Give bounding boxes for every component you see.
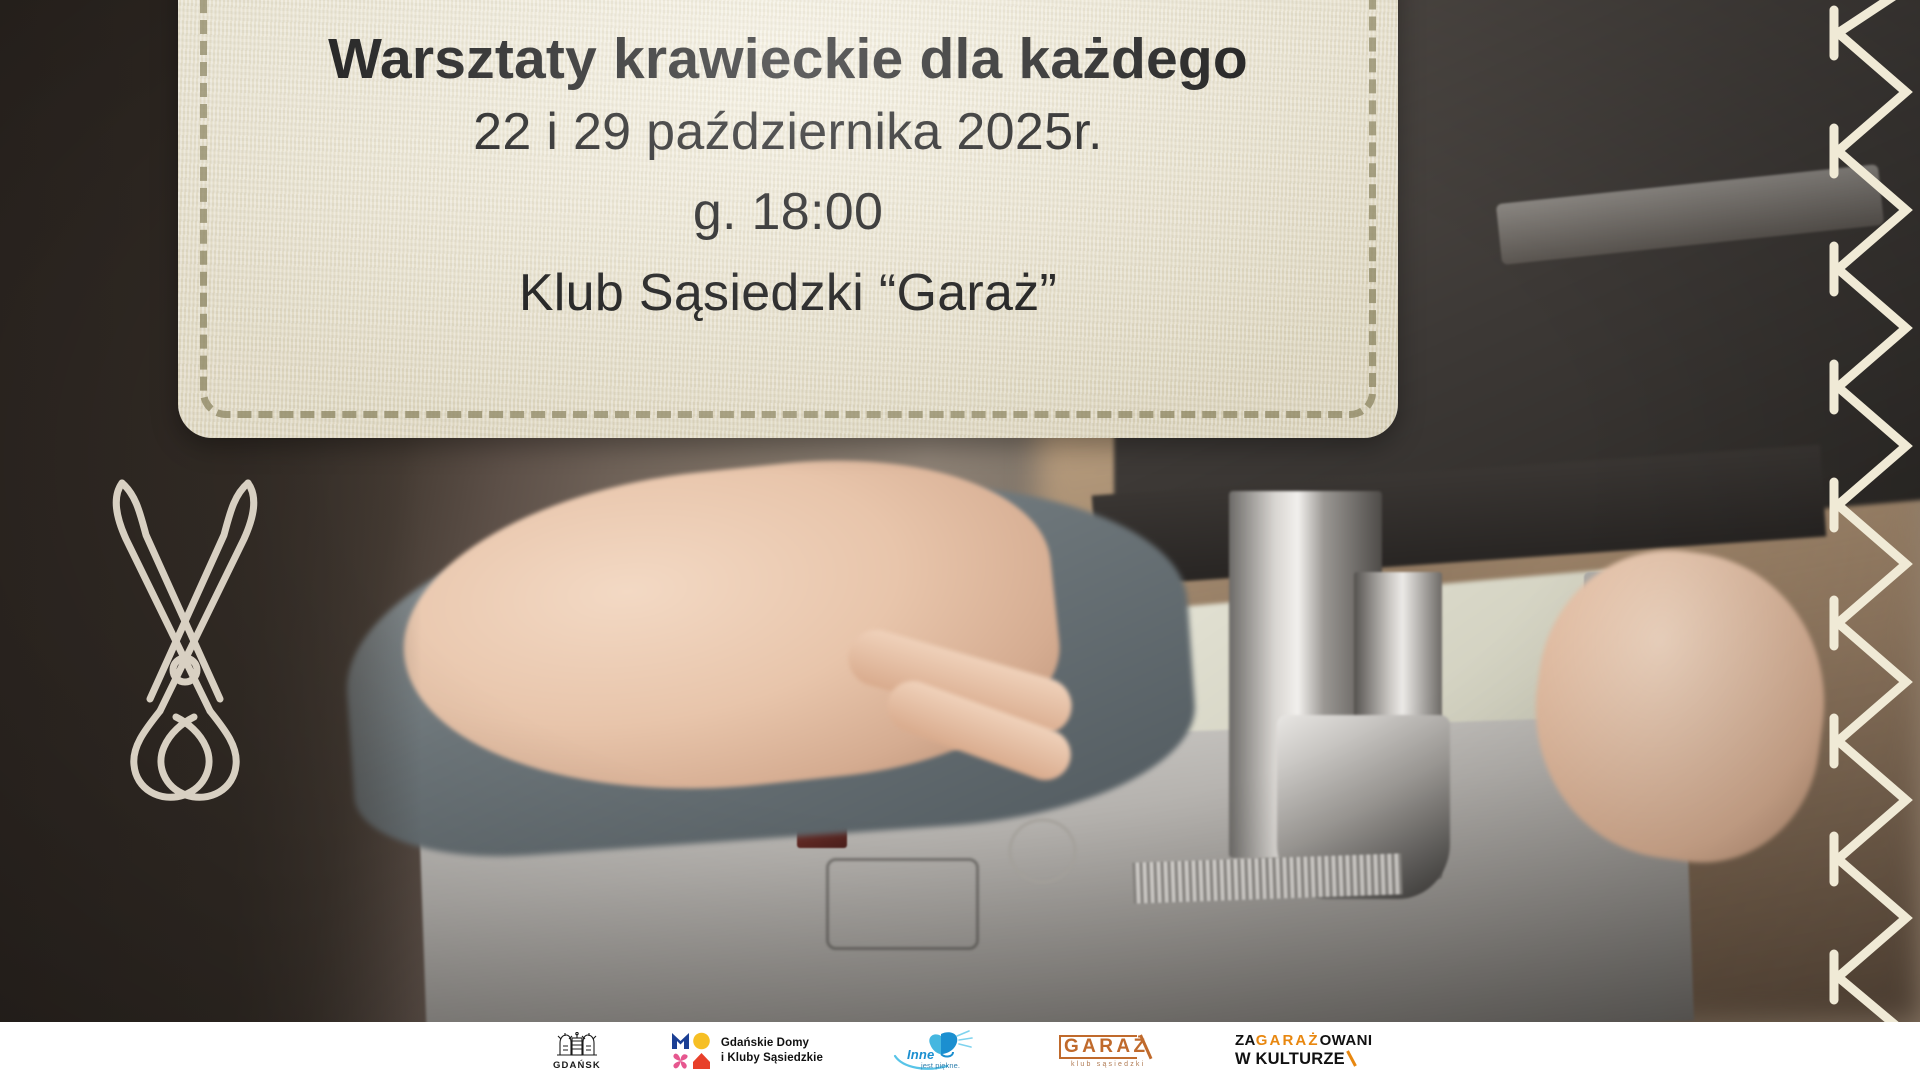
poster-time: g. 18:00: [178, 172, 1398, 253]
inne-subtitle: jest piękne.: [921, 1061, 960, 1070]
gdanskie-domy-text: Gdańskie Domy i Kluby Sąsiedzkie: [721, 1036, 823, 1066]
gdansk-crest-label: GDAŃSK: [553, 1060, 601, 1071]
patch-text-block: Warsztaty krawieckie dla każdego 22 i 29…: [178, 28, 1398, 334]
yellow-circle-icon: [692, 1032, 711, 1050]
garaz-word: GARAŻ: [1064, 1036, 1149, 1058]
zagarazowani-line2-text: W KULTURZE: [1235, 1050, 1345, 1068]
poster-date: 22 i 29 października 2025r.: [178, 92, 1398, 173]
poster-venue: Klub Sąsiedzki “Garaż”: [178, 253, 1398, 334]
gdanskie-domy-line2: i Kluby Sąsiedzkie: [721, 1051, 823, 1066]
pink-pinwheel-icon: [671, 1052, 690, 1070]
scissors-icon: [60, 455, 310, 815]
poster-canvas: Warsztaty krawieckie dla każdego 22 i 29…: [0, 0, 1920, 1080]
zagarazowani-suffix: OWANI: [1320, 1032, 1373, 1049]
logo-gdanskie-domy[interactable]: Gdańskie Domy i Kluby Sąsiedzkie: [671, 1032, 823, 1070]
zagarazowani-line2: W KULTURZE: [1235, 1050, 1367, 1070]
blue-m-icon: [671, 1032, 690, 1050]
zagarazowani-prefix: ZA: [1235, 1032, 1256, 1049]
zagarazowani-line1: ZAGARAŻOWANI: [1235, 1031, 1367, 1050]
gdanskie-domy-marks: [671, 1032, 711, 1070]
fabric-patch-card: Warsztaty krawieckie dla każdego 22 i 29…: [178, 0, 1398, 438]
gdanskie-domy-line1: Gdańskie Domy: [721, 1036, 823, 1051]
inne-word: Inne: [907, 1047, 935, 1062]
zigzag-stitch-pattern: [1820, 0, 1920, 1022]
red-house-icon: [692, 1052, 711, 1070]
zagarazowani-slash-icon: [1346, 1050, 1357, 1066]
zagarazowani-highlight: GARAŻ: [1256, 1032, 1320, 1049]
garaz-subtitle: klub sąsiedzki: [1071, 1061, 1145, 1068]
coat-of-arms-icon: [555, 1032, 599, 1059]
logo-gdansk-city[interactable]: GDAŃSK: [553, 1032, 601, 1071]
partner-logo-bar: GDAŃSK: [0, 1022, 1920, 1080]
logo-zagarazowani[interactable]: ZAGARAŻOWANI W KULTURZE: [1235, 1031, 1367, 1071]
logo-inne-jest-piekne[interactable]: Inne jest piękne.: [893, 1030, 985, 1072]
gdansk-crest: GDAŃSK: [553, 1032, 601, 1071]
poster-title: Warsztaty krawieckie dla każdego: [178, 28, 1398, 92]
logo-garaz-klub[interactable]: GARAŻ klub sąsiedzki: [1055, 1029, 1165, 1073]
